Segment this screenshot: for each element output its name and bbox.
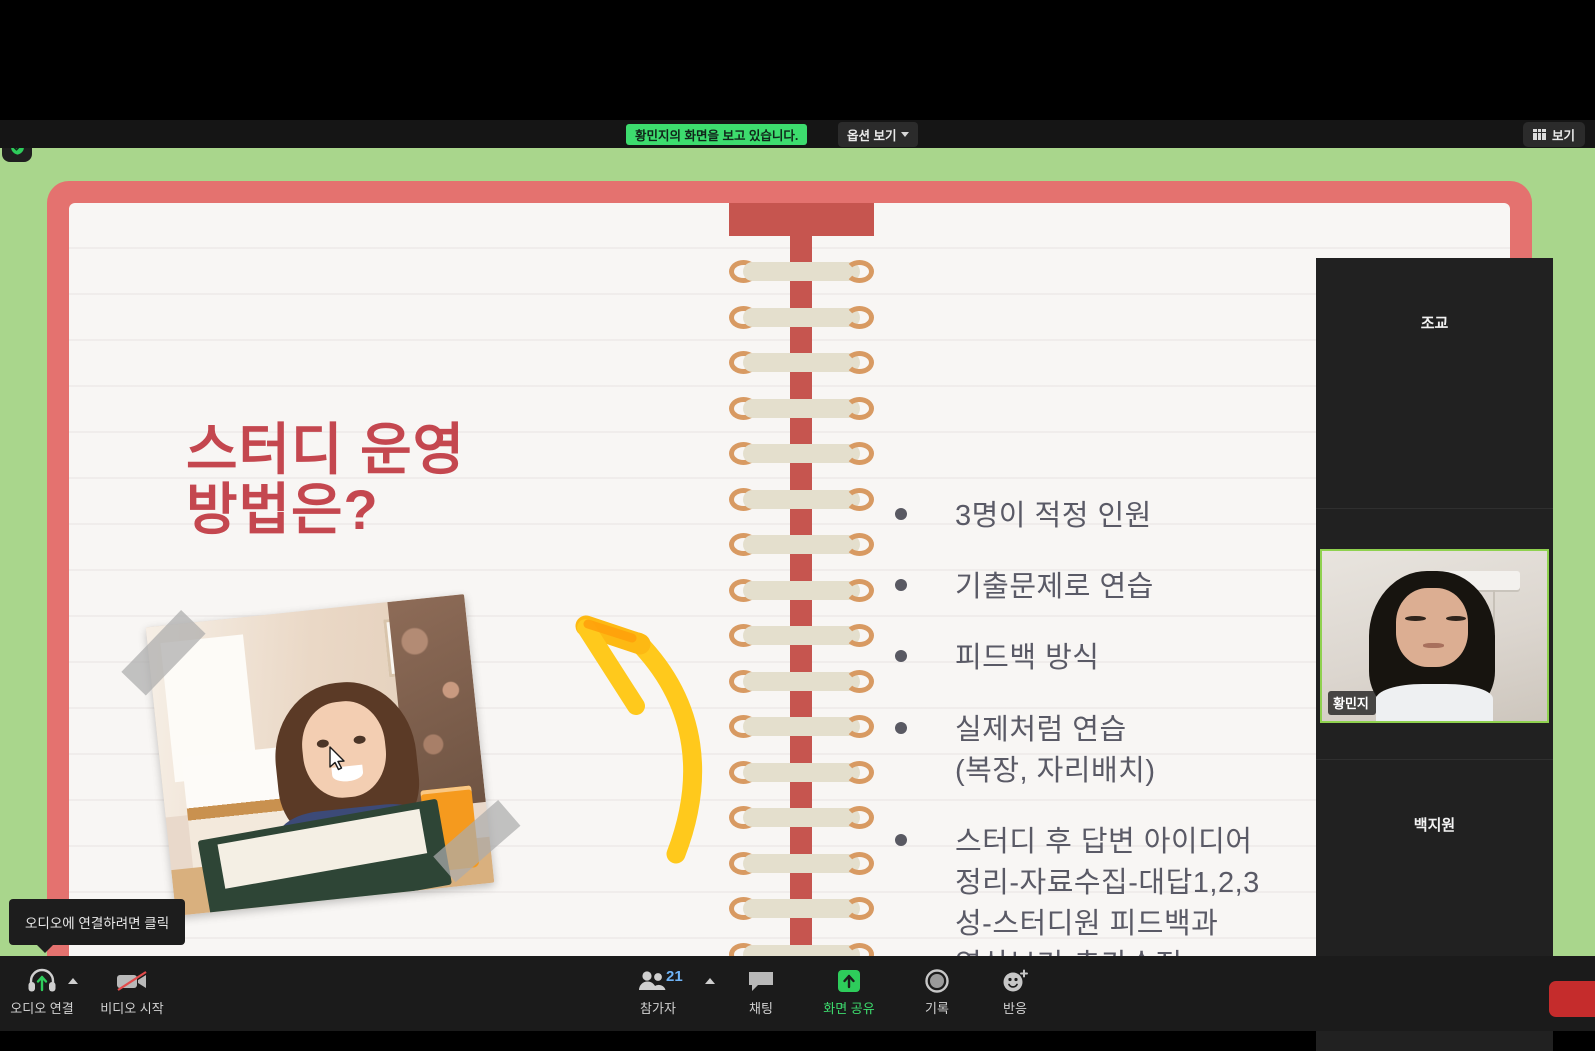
- chat-icon: [747, 964, 775, 994]
- bullet-text: 기출문제로 연습: [955, 567, 1154, 608]
- list-item: 스터디 후 답변 아이디어 정리-자료수집-대답1,2,3 성-스터디원 피드백…: [895, 822, 1355, 956]
- participant-name: 조교: [1316, 312, 1553, 333]
- slide-title: 스터디 운영 방법은?: [186, 420, 465, 541]
- participant-name: 황민지: [1333, 693, 1369, 712]
- bullet-dot-icon: [895, 508, 907, 520]
- participants-button[interactable]: 21 참가자: [616, 964, 700, 1017]
- start-video-button[interactable]: 비디오 시작: [90, 964, 174, 1017]
- participant-name: 백지원: [1316, 814, 1553, 835]
- list-item: 3명이 적정 인원: [895, 496, 1355, 537]
- share-screen-label: 화면 공유: [823, 998, 874, 1017]
- screen-share-banner-text: 황민지의 화면을 보고 있습니다.: [635, 125, 798, 144]
- audio-options-caret-icon[interactable]: [68, 978, 78, 984]
- list-item: 기출문제로 연습: [895, 567, 1355, 608]
- chat-button[interactable]: 채팅: [719, 964, 803, 1017]
- record-icon: [923, 964, 951, 994]
- zoom-meeting-window: 황민지의 화면을 보고 있습니다. 옵션 보기 보기: [0, 0, 1595, 1031]
- end-meeting-button[interactable]: [1549, 981, 1595, 1017]
- curved-arrow-up-left-icon: [528, 566, 728, 866]
- video-off-icon: [115, 964, 149, 994]
- view-button-label: 보기: [1552, 125, 1575, 144]
- bullet-dot-icon: [895, 834, 907, 846]
- notebook-spiral-rings: [729, 260, 874, 956]
- bullet-dot-icon: [895, 722, 907, 734]
- participants-caret-icon[interactable]: [705, 978, 715, 984]
- chevron-down-icon: [901, 132, 909, 137]
- bullet-text: 스터디 후 답변 아이디어 정리-자료수집-대답1,2,3 성-스터디원 피드백…: [955, 822, 1260, 956]
- bullet-dot-icon: [895, 579, 907, 591]
- letterbox-top: [0, 0, 1595, 120]
- bullet-text: 피드백 방식: [955, 638, 1099, 679]
- slide-bullet-list: 3명이 적정 인원 기출문제로 연습 피드백 방식 실제처럼 연습 (복장, 자…: [895, 496, 1355, 956]
- shield-check-icon: [2, 148, 32, 162]
- grid-view-icon: [1533, 129, 1546, 140]
- bullet-dot-icon: [895, 650, 907, 662]
- list-item: 실제처럼 연습 (복장, 자리배치): [895, 710, 1355, 792]
- slide-photo: [146, 594, 495, 916]
- reactions-button[interactable]: 반응: [973, 964, 1057, 1017]
- view-options-label: 옵션 보기: [847, 125, 896, 144]
- screen-share-banner: 황민지의 화면을 보고 있습니다.: [626, 124, 807, 145]
- share-screen-button[interactable]: 화면 공유: [807, 964, 891, 1017]
- record-button[interactable]: 기록: [895, 964, 979, 1017]
- view-options-button[interactable]: 옵션 보기: [838, 122, 918, 147]
- meeting-toolbar: 오디오 연결 비디오 시작 21 참가자: [0, 956, 1595, 1031]
- mouse-cursor: [329, 746, 346, 771]
- participants-label: 참가자: [640, 998, 676, 1017]
- participant-filmstrip[interactable]: 조교 황민지 백지원: [1316, 258, 1553, 1051]
- participants-icon: 21: [637, 964, 679, 994]
- view-layout-button[interactable]: 보기: [1523, 122, 1585, 147]
- reactions-label: 반응: [1003, 998, 1027, 1017]
- participant-tile-hwangminji[interactable]: 황민지: [1316, 509, 1553, 760]
- bullet-text: 3명이 적정 인원: [955, 496, 1152, 537]
- start-video-label: 비디오 시작: [100, 998, 163, 1017]
- join-audio-button[interactable]: 오디오 연결: [0, 964, 84, 1017]
- record-label: 기록: [925, 998, 949, 1017]
- bullet-text: 실제처럼 연습 (복장, 자리배치): [955, 710, 1156, 792]
- join-audio-label: 오디오 연결: [10, 998, 73, 1017]
- share-screen-icon: [834, 964, 864, 994]
- reactions-icon: [1000, 964, 1030, 994]
- participant-tile-jogyo[interactable]: 조교: [1316, 258, 1553, 509]
- chat-label: 채팅: [749, 998, 773, 1017]
- participants-count: 21: [666, 968, 683, 985]
- participant-name-badge: 황민지: [1328, 691, 1376, 715]
- audio-tooltip: 오디오에 연결하려면 클릭: [9, 899, 185, 945]
- list-item: 피드백 방식: [895, 638, 1355, 679]
- participant-video: 황민지: [1320, 549, 1549, 723]
- headset-icon: [27, 964, 57, 994]
